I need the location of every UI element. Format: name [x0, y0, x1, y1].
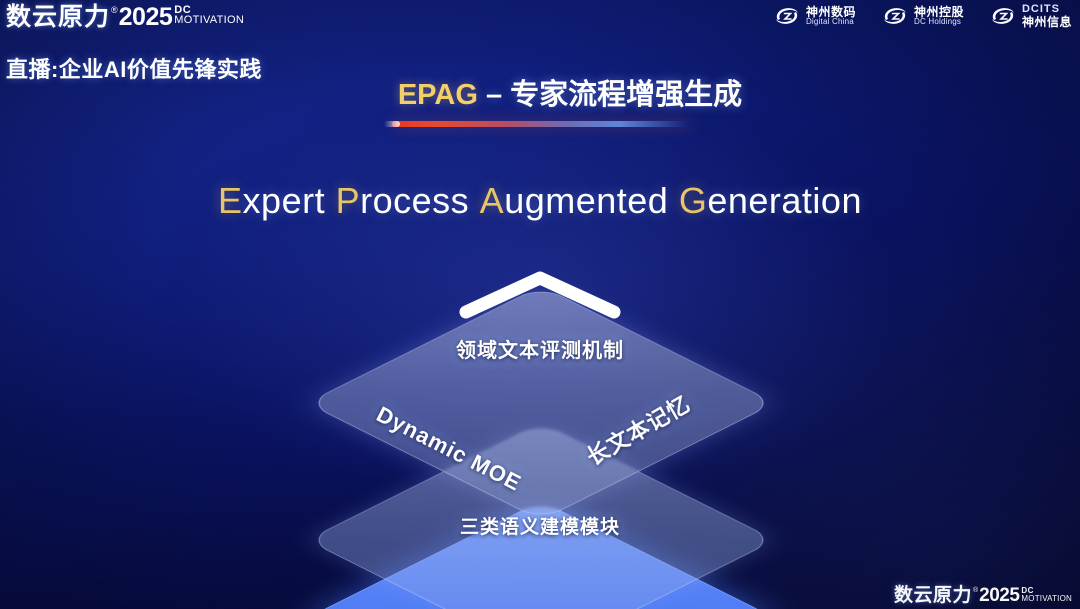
diagram-mid-left-label: Dynamic MOE [372, 401, 525, 496]
title-chinese: 专家流程增强生成 [510, 79, 742, 111]
partner-logo-dc-holdings: 神州控股 DC Holdings [882, 5, 964, 27]
partner-name-en: Digital China [806, 18, 856, 26]
partner-name-en: DCITS [1022, 4, 1072, 16]
brand-year: 2025 [119, 3, 173, 31]
footer-brand-logo: 数云原力 ® 2025 DC MOTIVATION [894, 585, 1072, 607]
title-divider [392, 121, 692, 127]
swirl-icon [882, 5, 908, 27]
subtitle-initial-e: E [218, 180, 243, 221]
diagram-mid-right-label: 长文本记忆 [580, 387, 696, 472]
partner-label-digital-china: 神州数码 Digital China [806, 6, 856, 27]
partner-logo-group: 神州数码 Digital China 神州控股 DC Holdings [774, 4, 1072, 28]
chevron-up-icon [456, 268, 624, 320]
partner-logo-dcits: DCITS 神州信息 [990, 4, 1072, 28]
partner-name-cn: 神州信息 [1022, 16, 1072, 29]
subtitle-word-augmented: ugmented [504, 180, 668, 221]
partner-label-dc-holdings: 神州控股 DC Holdings [914, 6, 964, 27]
page-title: EPAG – 专家流程增强生成 [0, 71, 1080, 113]
swirl-icon [990, 5, 1016, 27]
subtitle-initial-p: P [336, 180, 361, 221]
footer-brand-year: 2025 [979, 585, 1019, 607]
brand-name-cn: 数云原力 [6, 3, 110, 31]
swirl-icon [774, 5, 800, 27]
slide-root: 数云原力 ® 2025 DC MOTIVATION 直播:企业AI价值先锋实践 … [0, 0, 1080, 609]
title-dash: – [478, 79, 510, 111]
subtitle-initial-g: G [679, 180, 708, 221]
title-acronym: EPAG [398, 79, 478, 111]
subtitle-word-process: rocess [360, 180, 469, 221]
diagram-bottom-layer-label: 三类语义建模模块 [0, 512, 1080, 539]
partner-label-dcits: DCITS 神州信息 [1022, 4, 1072, 28]
brand-dc-motivation: DC MOTIVATION [174, 3, 244, 25]
brand-registered-mark: ® [111, 4, 118, 16]
subtitle-initial-a: A [480, 180, 505, 221]
footer-brand-name-cn: 数云原力 [894, 585, 972, 607]
diagram-layer-middle [375, 374, 707, 609]
page-subtitle: Expert Process Augmented Generation [0, 180, 1080, 222]
diagram-layer-bottom [375, 452, 707, 609]
partner-name-en: DC Holdings [914, 18, 964, 26]
diagram-layer-top [375, 237, 707, 569]
brand-motivation-text: MOTIVATION [174, 15, 244, 25]
brand-logo: 数云原力 ® 2025 DC MOTIVATION [6, 3, 244, 31]
footer-dc-motivation: DC MOTIVATION [1021, 585, 1072, 603]
subtitle-word-expert: xpert [243, 180, 326, 221]
footer-registered-mark: ® [973, 586, 978, 595]
diagram-top-layer-label: 领域文本评测机制 [0, 334, 1080, 363]
partner-logo-digital-china: 神州数码 Digital China [774, 5, 856, 27]
footer-motivation-text: MOTIVATION [1021, 595, 1072, 603]
subtitle-word-generation: eneration [707, 180, 862, 221]
